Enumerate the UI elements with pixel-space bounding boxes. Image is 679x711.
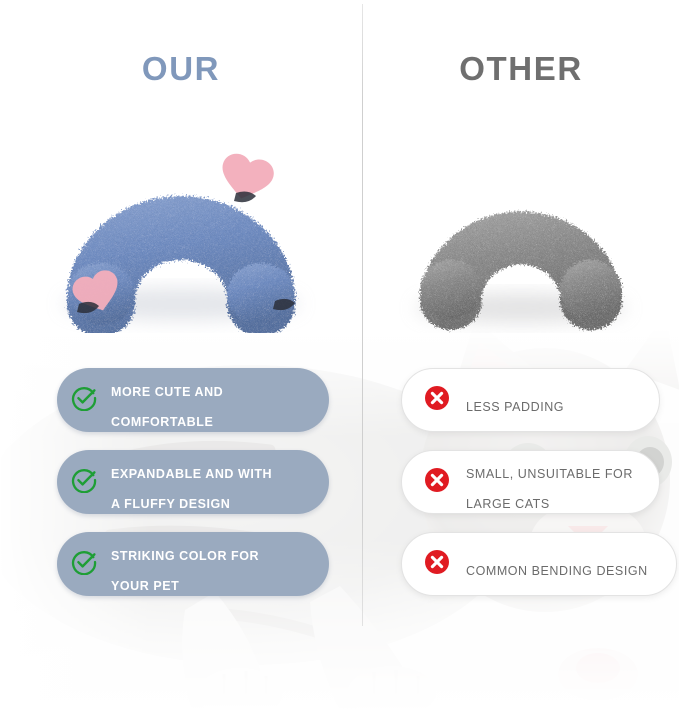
product-image-other (363, 118, 679, 343)
check-circle-icon (71, 549, 97, 580)
column-other: OTHER (363, 0, 679, 711)
feature-line-2: COMFORTABLE (111, 415, 213, 429)
feature-line-2: YOUR PET (111, 579, 179, 593)
check-circle-icon (71, 467, 97, 498)
feature-pill-other-3[interactable]: COMMON BENDING DESIGN (401, 532, 677, 596)
feature-line-1: SMALL, UNSUITABLE FOR (466, 467, 633, 481)
feature-line-1: LESS PADDING (466, 400, 564, 414)
feature-pill-label: SMALL, UNSUITABLE FOR LARGE CATS (466, 452, 633, 512)
feature-pill-label: COMMON BENDING DESIGN (466, 549, 648, 579)
x-circle-icon (424, 467, 450, 498)
feature-pill-label: LESS PADDING (466, 385, 564, 415)
x-circle-icon (424, 549, 450, 580)
feature-line-1: STRIKING COLOR FOR (111, 549, 259, 563)
feature-pill-ours-3[interactable]: STRIKING COLOR FOR YOUR PET (57, 532, 329, 596)
feature-line-1: EXPANDABLE AND WITH (111, 467, 272, 481)
feature-pill-other-1[interactable]: LESS PADDING (401, 368, 660, 432)
feature-list-ours: MORE CUTE AND COMFORTABLE EXPANDABLE AND… (0, 368, 362, 614)
feature-pill-ours-2[interactable]: EXPANDABLE AND WITH A FLUFFY DESIGN (57, 450, 329, 514)
feature-line-1: COMMON BENDING DESIGN (466, 564, 648, 578)
x-circle-icon (424, 385, 450, 416)
feature-pill-label: EXPANDABLE AND WITH A FLUFFY DESIGN (111, 452, 272, 512)
feature-line-1: MORE CUTE AND (111, 385, 223, 399)
feature-line-2: LARGE CATS (466, 497, 550, 511)
heading-other: OTHER (363, 52, 679, 85)
feature-line-2: A FLUFFY DESIGN (111, 497, 230, 511)
feature-pill-other-2[interactable]: SMALL, UNSUITABLE FOR LARGE CATS (401, 450, 660, 514)
feature-list-other: LESS PADDING SMALL, UNSUITABLE FOR LARGE… (363, 368, 679, 614)
feature-pill-label: STRIKING COLOR FOR YOUR PET (111, 534, 259, 594)
check-circle-icon (71, 385, 97, 416)
comparison-infographic: OUR (0, 0, 679, 711)
feature-pill-ours-1[interactable]: MORE CUTE AND COMFORTABLE (57, 368, 329, 432)
feature-pill-label: MORE CUTE AND COMFORTABLE (111, 370, 223, 430)
product-image-ours (0, 118, 362, 343)
heading-ours: OUR (0, 52, 362, 85)
column-ours: OUR (0, 0, 362, 711)
